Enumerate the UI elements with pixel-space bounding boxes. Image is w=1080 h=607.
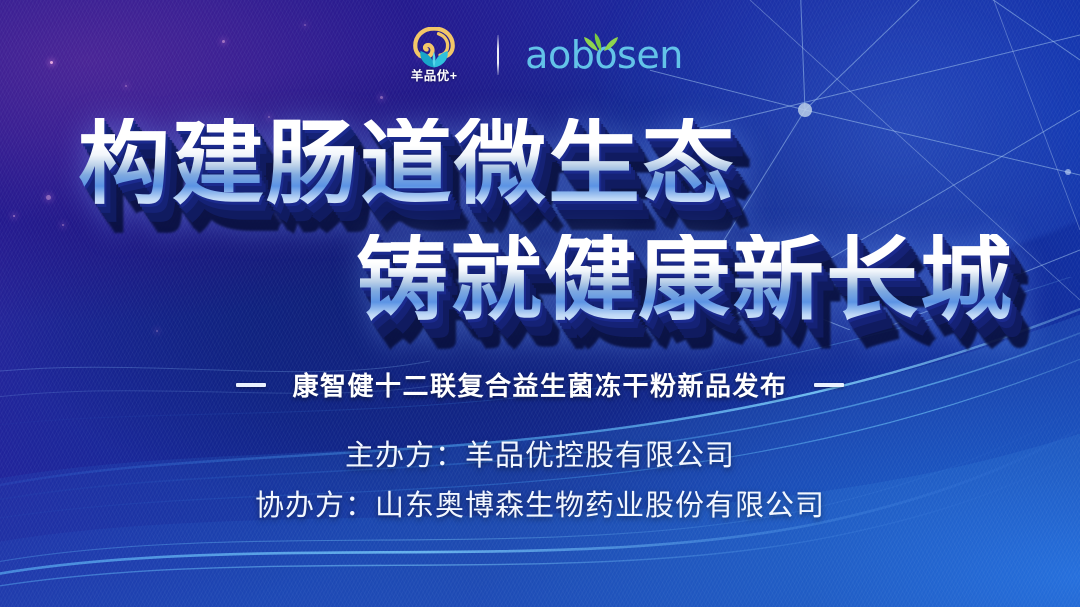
organizer-co-host: 协办方：山东奥博森生物药业股份有限公司 — [255, 482, 825, 524]
title-line-2: 铸就健康新长城 — [356, 234, 1014, 326]
lotus-swirl-logo-icon — [410, 27, 458, 69]
three-leaves-icon — [581, 31, 621, 53]
subtitle-dash-right — [814, 383, 844, 387]
brand-aobosen[interactable]: aobosen — [525, 36, 683, 74]
poster-canvas: 羊品优+ aobosen 构建肠道微生态 铸就健康新长城 康智健十二联复合益生菌… — [0, 0, 1080, 607]
brand-yangpinyou-label: 羊品优+ — [411, 70, 458, 83]
organizer-list: 主办方：羊品优控股有限公司 协办方：山东奥博森生物药业股份有限公司 — [0, 432, 1080, 524]
header-logos: 羊品优+ aobosen — [0, 22, 1080, 88]
subtitle-text: 康智健十二联复合益生菌冻干粉新品发布 — [292, 366, 787, 403]
organizer-host: 主办方：羊品优控股有限公司 — [345, 432, 735, 474]
subtitle-dash-left — [236, 383, 266, 387]
brand-yangpinyou[interactable]: 羊品优+ — [397, 27, 471, 83]
main-title: 构建肠道微生态 铸就健康新长城 — [0, 118, 1080, 346]
header-divider — [497, 35, 499, 75]
subtitle-row: 康智健十二联复合益生菌冻干粉新品发布 — [0, 366, 1080, 403]
title-line-1: 构建肠道微生态 — [78, 118, 736, 210]
